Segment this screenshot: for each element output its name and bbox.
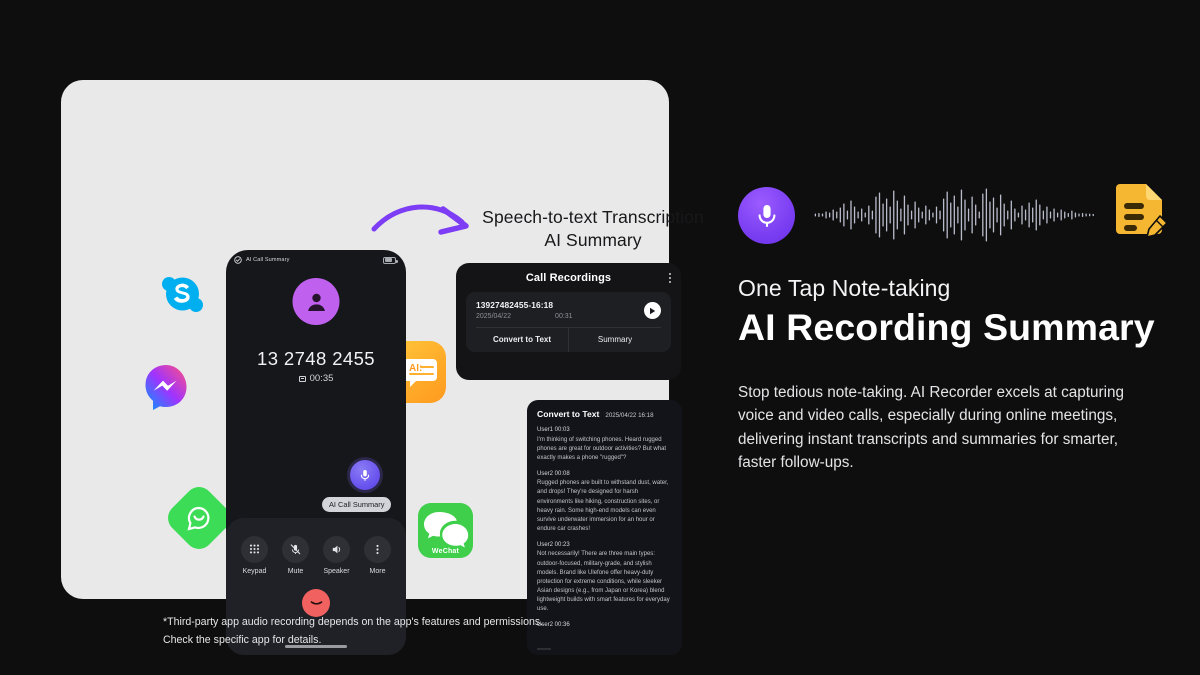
mute-icon [282, 536, 309, 563]
phone-status-bar: AI Call Summary [226, 250, 406, 270]
hero-icon-row [738, 184, 1168, 246]
transcript-date: 2025/04/22 16:18 [605, 412, 653, 419]
call-timer-value: 00:35 [310, 373, 334, 384]
control-mute[interactable]: Mute [282, 536, 309, 575]
control-label: Mute [288, 568, 304, 575]
skype-icon[interactable] [160, 272, 205, 317]
caller-avatar [293, 278, 340, 325]
control-label: Speaker [323, 568, 349, 575]
transcript-text: Not necessarily! There are three main ty… [537, 550, 672, 614]
left-visual-panel: Speech-to-text Transcription AI Summary [61, 80, 669, 599]
summary-button[interactable]: Summary [568, 328, 661, 352]
whatsapp-tile [162, 481, 236, 555]
more-options-icon[interactable] [669, 273, 671, 283]
recording-duration: 00:31 [555, 313, 573, 320]
recordings-title: Call Recordings [526, 272, 611, 284]
whatsapp-icon[interactable] [173, 492, 225, 544]
transcript-text: I'm thinking of switching phones. Heard … [537, 436, 672, 463]
check-circle-icon [234, 256, 242, 264]
recording-name: 13927482455-16:18 [476, 300, 573, 310]
recording-list-item[interactable]: 13927482455-16:18 2025/04/22 00:31 Conve… [466, 292, 671, 352]
ai-call-summary-tooltip: AI Call Summary [322, 497, 391, 512]
play-icon [649, 307, 656, 315]
promo-banner: Speech-to-text Transcription AI Summary [0, 0, 1200, 675]
play-button[interactable] [644, 302, 661, 319]
keypad-icon [241, 536, 268, 563]
caller-number: 13 2748 2455 [226, 348, 406, 370]
transcript-title: Convert to Text [537, 409, 599, 419]
eyebrow-text: One Tap Note-taking [738, 275, 1168, 302]
microphone-icon [358, 468, 372, 482]
panel-headline: Speech-to-text Transcription AI Summary [459, 206, 727, 253]
control-more[interactable]: More [364, 536, 391, 575]
more-icon [364, 536, 391, 563]
recording-date: 2025/04/22 [476, 313, 511, 320]
convert-to-text-button[interactable]: Convert to Text [476, 328, 568, 352]
transcript-entry: User2 00:23 Not necessarily! There are t… [537, 541, 672, 614]
transcript-entry: User2 00:08 Rugged phones are built to w… [537, 470, 672, 534]
microphone-icon [738, 187, 795, 244]
description-text: Stop tedious note-taking. AI Recorder ex… [738, 381, 1138, 475]
wechat-icon[interactable]: WeChat [418, 503, 473, 558]
status-bar-title: AI Call Summary [246, 257, 289, 263]
battery-icon [383, 257, 396, 264]
control-keypad[interactable]: Keypad [241, 536, 268, 575]
right-content-panel: One Tap Note-taking AI Recording Summary… [738, 184, 1168, 475]
page-title: AI Recording Summary [738, 306, 1168, 349]
transcript-entry: User1 00:03 I'm thinking of switching ph… [537, 426, 672, 463]
call-timer: 00:35 [226, 373, 406, 384]
phone-mockup: AI Call Summary 13 2748 2455 00:35 [226, 250, 406, 655]
end-call-icon [309, 596, 324, 611]
control-speaker[interactable]: Speaker [323, 536, 350, 575]
transcript-speaker: User1 00:03 [537, 426, 672, 435]
headline-line-1: Speech-to-text Transcription [459, 206, 727, 229]
transcript-speaker: User2 00:08 [537, 470, 672, 479]
recording-indicator-icon [299, 376, 306, 382]
transcript-speaker: User2 00:23 [537, 541, 672, 550]
footnote: *Third-party app audio recording depends… [163, 613, 683, 649]
svg-text:AI:: AI: [409, 363, 422, 374]
footnote-line-1: *Third-party app audio recording depends… [163, 613, 683, 631]
call-recordings-card: Call Recordings 13927482455-16:18 2025/0… [456, 263, 681, 380]
messenger-icon[interactable] [142, 362, 192, 412]
audio-waveform-icon [813, 187, 1098, 243]
speaker-icon [323, 536, 350, 563]
footnote-line-2: Check the specific app for details. [163, 631, 683, 649]
wechat-tile: WeChat [418, 503, 473, 558]
ai-call-summary-button[interactable] [350, 460, 380, 490]
wechat-label: WeChat [418, 548, 473, 555]
document-edit-icon [1110, 183, 1168, 248]
headline-line-2: AI Summary [459, 229, 727, 252]
control-label: More [370, 568, 386, 575]
control-label: Keypad [243, 568, 267, 575]
transcript-text: Rugged phones are built to withstand dus… [537, 479, 672, 534]
